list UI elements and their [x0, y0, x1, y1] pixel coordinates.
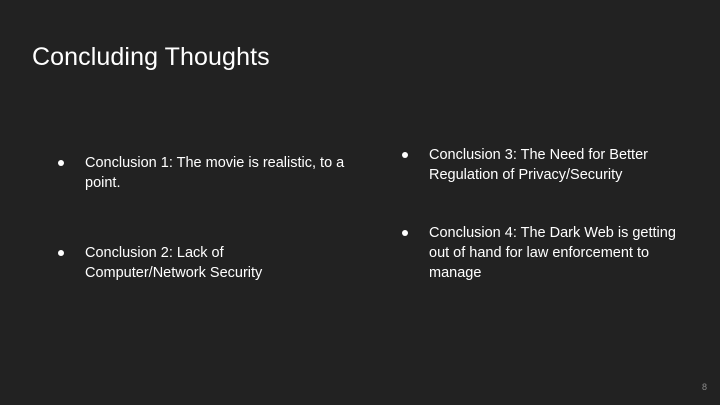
page-title: Concluding Thoughts — [32, 42, 270, 72]
presentation-slide: Concluding Thoughts Conclusion 1: The mo… — [0, 0, 720, 405]
bullet-dot-icon — [58, 250, 64, 256]
list-item-label: Conclusion 1: The movie is realistic, to… — [85, 155, 344, 191]
left-column: Conclusion 1: The movie is realistic, to… — [55, 140, 345, 283]
right-column: Conclusion 3: The Need for Better Regula… — [399, 140, 699, 283]
slide-number: 8 — [702, 382, 707, 393]
bullet-dot-icon — [402, 230, 408, 236]
list-item: Conclusion 3: The Need for Better Regula… — [399, 145, 699, 185]
list-item: Conclusion 4: The Dark Web is getting ou… — [399, 223, 699, 283]
list-item-label: Conclusion 3: The Need for Better Regula… — [429, 147, 648, 183]
slide-body: Conclusion 1: The movie is realistic, to… — [0, 140, 720, 360]
list-item-label: Conclusion 2: Lack of Computer/Network S… — [85, 245, 262, 281]
bullet-dot-icon — [58, 160, 64, 166]
list-item-label: Conclusion 4: The Dark Web is getting ou… — [429, 225, 676, 281]
list-item: Conclusion 1: The movie is realistic, to… — [55, 153, 345, 193]
bullet-dot-icon — [402, 152, 408, 158]
list-item: Conclusion 2: Lack of Computer/Network S… — [55, 243, 345, 283]
